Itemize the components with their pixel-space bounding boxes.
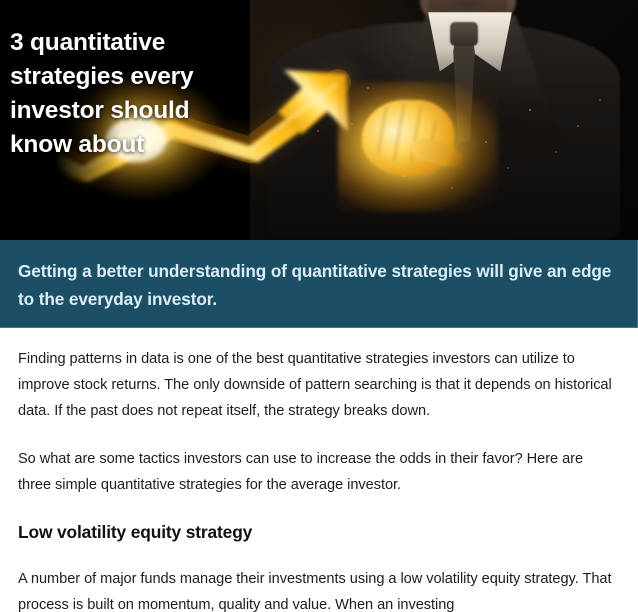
hero-title: 3 quantitative strategies every investor… — [10, 26, 250, 162]
article-paragraph-1: Finding patterns in data is one of the b… — [18, 346, 620, 424]
article-page: 3 quantitative strategies every investor… — [0, 0, 638, 612]
article-heading-low-volatility: Low volatility equity strategy — [18, 520, 620, 544]
hero-banner: 3 quantitative strategies every investor… — [0, 0, 638, 240]
necktie-knot — [450, 22, 478, 46]
callout-text: Getting a better understanding of quanti… — [18, 257, 618, 313]
article-body: Finding patterns in data is one of the b… — [0, 328, 638, 612]
article-paragraph-2: So what are some tactics investors can u… — [18, 446, 620, 498]
article-paragraph-3: A number of major funds manage their inv… — [18, 566, 620, 612]
callout-band: Getting a better understanding of quanti… — [0, 240, 638, 328]
